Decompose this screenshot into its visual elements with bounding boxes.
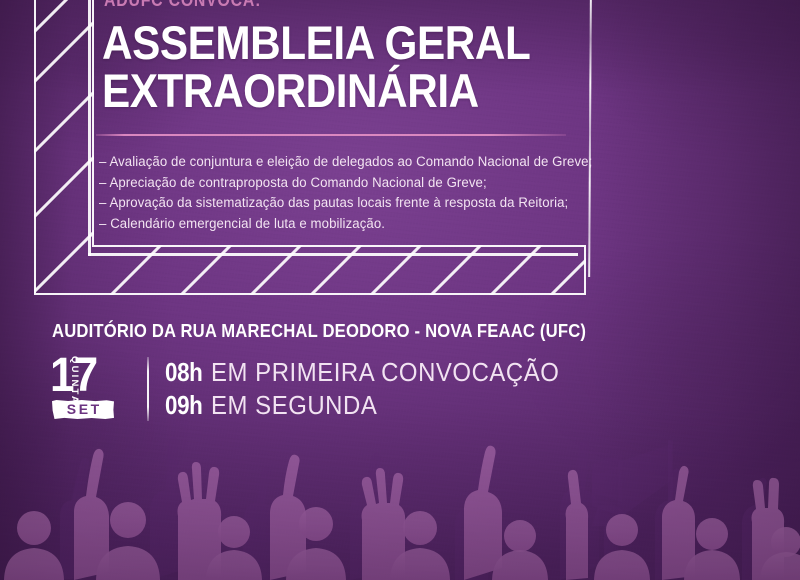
headline-line-2: EXTRAORDINÁRIA [102, 68, 479, 114]
date-block: 17 SET [50, 356, 126, 422]
agenda-item: – Avaliação de conjuntura e eleição de d… [99, 152, 545, 173]
time-label: EM SEGUNDA [211, 389, 377, 422]
time-row: 09h EM SEGUNDA [165, 389, 590, 422]
title-divider-rule [96, 134, 566, 136]
date-month-label: SET [52, 400, 114, 419]
venue-text: AUDITÓRIO DA RUA MARECHAL DEODORO - NOVA… [52, 320, 586, 342]
headline-line-1: ASSEMBLEIA GERAL [102, 20, 530, 66]
date-time-separator-rule [147, 357, 149, 421]
date-weekday-label: QUINTA [69, 356, 80, 405]
time-row: 08h EM PRIMEIRA CONVOCAÇÃO [165, 356, 590, 389]
poster-canvas: ADUFC CONVOCA: ASSEMBLEIA GERAL EXTRAORD… [0, 0, 800, 580]
crowd-silhouette-illustration [0, 420, 800, 580]
times-list: 08h EM PRIMEIRA CONVOCAÇÃO 09h EM SEGUND… [165, 356, 590, 422]
kicker-text: ADUFC CONVOCA: [104, 0, 261, 11]
time-hour: 09h [165, 389, 203, 422]
agenda-item: – Aprovação da sistematização das pautas… [99, 193, 545, 214]
agenda-item: – Calendário emergencial de luta e mobil… [99, 214, 545, 235]
frame-inner-bottom-rule [88, 253, 578, 256]
agenda-list: – Avaliação de conjuntura e eleição de d… [99, 152, 579, 234]
date-month-badge: SET [52, 400, 114, 419]
time-hour: 08h [165, 356, 203, 389]
time-label: EM PRIMEIRA CONVOCAÇÃO [211, 356, 559, 389]
agenda-item: – Apreciação de contraproposta do Comand… [99, 173, 545, 194]
frame-inner-left-rule [88, 0, 91, 256]
